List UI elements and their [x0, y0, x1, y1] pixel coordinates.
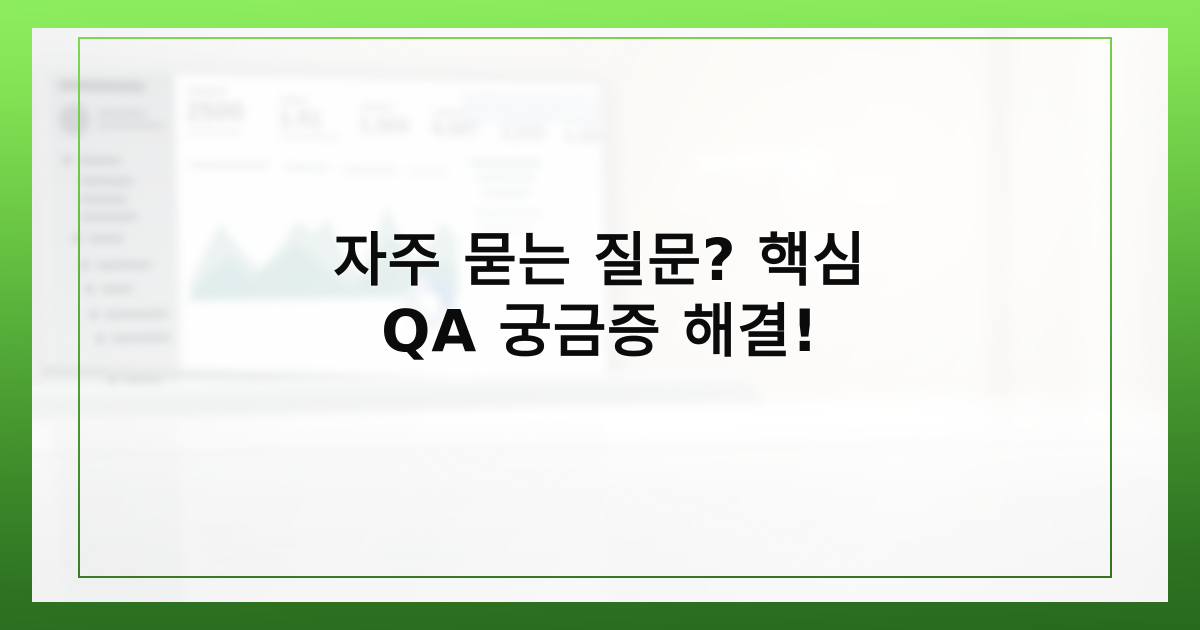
poster-canvas: 2500 1.51 1,500 9,587 2,315	[0, 0, 1200, 630]
content-card: 2500 1.51 1,500 9,587 2,315	[32, 28, 1168, 602]
headline-block: 자주 묻는 질문? 핵심 QA 궁금증 해결!	[32, 28, 1168, 602]
headline-line-2: QA 궁금증 해결!	[381, 296, 819, 367]
headline-line-1: 자주 묻는 질문? 핵심	[333, 225, 866, 296]
